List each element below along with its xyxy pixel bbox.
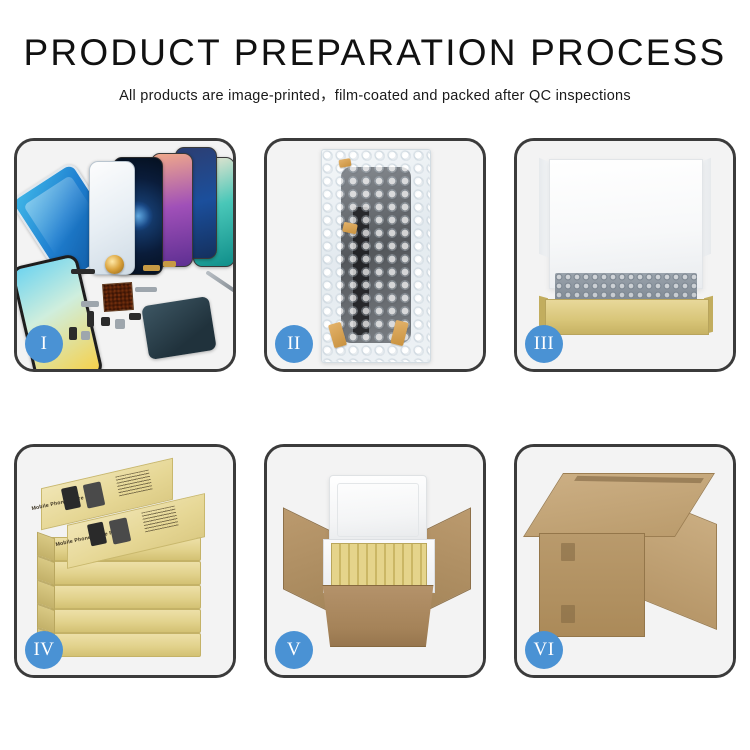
step-badge-3: III [525,325,563,363]
wrapped-part-icon [341,167,411,343]
spare-part-icon [101,317,110,326]
phone-back-housing-icon [141,296,217,360]
inner-boxes-icon [331,543,427,587]
spare-part-icon [69,327,77,340]
yellow-box-front-icon [545,299,709,335]
process-step-panel-5[interactable]: V [264,444,486,678]
process-step-panel-4[interactable]: Mobile Phone Spare Parts Mobile Phone Sp… [14,444,236,678]
tweezers-icon [205,270,236,296]
stacked-box-icon [51,585,201,609]
spare-part-icon [143,265,160,271]
spare-part-icon [81,331,90,340]
step-badge-6: VI [525,631,563,669]
spare-part-icon [129,313,141,320]
speaker-coil-icon [105,255,124,274]
spare-part-icon [135,287,157,292]
process-step-panel-3[interactable]: III [514,138,736,372]
step-badge-2: II [275,325,313,363]
spare-part-icon [71,269,95,274]
stacked-box-icon [51,633,201,657]
page-header: PRODUCT PREPARATION PROCESS All products… [0,0,750,105]
box-lid-icon [549,159,703,289]
process-step-panel-6[interactable]: VI [514,444,736,678]
process-step-grid: I II III [14,138,736,678]
carton-handle-tab-icon [561,605,575,623]
stacked-box-icon [51,609,201,633]
process-step-panel-1[interactable]: I [14,138,236,372]
chip-grid-icon [102,282,134,312]
carton-handle-tab-icon [561,543,575,561]
carton-front-face-icon [539,533,645,637]
step-badge-5: V [275,631,313,669]
process-step-panel-2[interactable]: II [264,138,486,372]
step-badge-4: IV [25,631,63,669]
step-badge-1: I [25,325,63,363]
shipping-carton-icon [315,585,441,647]
spare-part-icon [115,319,125,329]
spare-part-icon [87,311,94,327]
page-title: PRODUCT PREPARATION PROCESS [0,34,750,73]
spare-part-icon [81,301,99,307]
page-subtitle: All products are image-printed，film-coat… [0,84,750,105]
foam-lid-icon [329,475,427,545]
spare-part-icon [163,261,176,267]
